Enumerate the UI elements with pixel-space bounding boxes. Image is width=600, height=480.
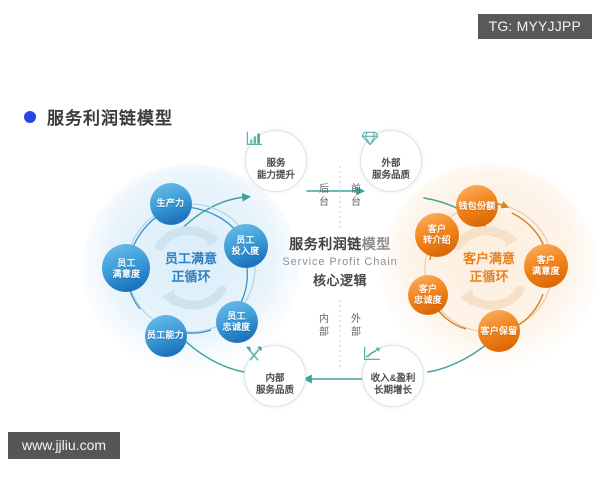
orange-node-customer-retention[interactable]: 客户保留 xyxy=(481,313,517,349)
divider-label-internal: 内部 xyxy=(313,314,335,339)
orange-node-wallet-share[interactable]: 钱包份额 xyxy=(459,188,495,224)
tg-watermark-badge: TG: MYYJJPP xyxy=(478,14,592,39)
outer-node-label: 收入&盈利 长期增长 xyxy=(371,373,416,397)
blue-node-productivity[interactable]: 生产力 xyxy=(152,185,189,222)
customer-cycle-caption: 客户满意 正循环 xyxy=(439,250,539,285)
orange-node-customer-referral[interactable]: 客户 转介绍 xyxy=(417,215,457,255)
centre-subtitle-en: Service Profit Chain xyxy=(265,256,415,268)
centre-title-line: 服务利润链模型 xyxy=(265,234,415,254)
service-profit-chain-diagram: 服务 能力提升 外部 服务品质 收入&盈利 长期增长 xyxy=(0,100,600,440)
blue-node-employee-loyalty[interactable]: 员工 忠诚度 xyxy=(218,303,255,340)
centre-text-block: 服务利润链模型 Service Profit Chain 核心逻辑 xyxy=(265,234,415,289)
blue-node-employee-capability[interactable]: 员工能力 xyxy=(147,317,184,354)
centre-subtitle-cn: 核心逻辑 xyxy=(265,270,415,289)
divider-label-external: 外部 xyxy=(345,314,367,339)
outer-node-external-quality[interactable]: 外部 服务品质 xyxy=(360,130,422,192)
outer-node-label: 服务 能力提升 xyxy=(257,158,295,182)
outer-node-revenue-profit[interactable]: 收入&盈利 长期增长 xyxy=(362,345,424,407)
divider-label-backstage: 后台 xyxy=(313,184,335,209)
outer-node-label: 外部 服务品质 xyxy=(372,158,410,182)
divider-label-frontstage: 前台 xyxy=(345,184,367,209)
outer-node-label: 内部 服务品质 xyxy=(256,373,294,397)
outer-node-service-capability[interactable]: 服务 能力提升 xyxy=(245,130,307,192)
outer-node-internal-quality[interactable]: 内部 服务品质 xyxy=(244,345,306,407)
employee-cycle-caption: 员工满意 正循环 xyxy=(141,250,241,285)
site-watermark-badge: www.jjliu.com xyxy=(8,432,120,459)
